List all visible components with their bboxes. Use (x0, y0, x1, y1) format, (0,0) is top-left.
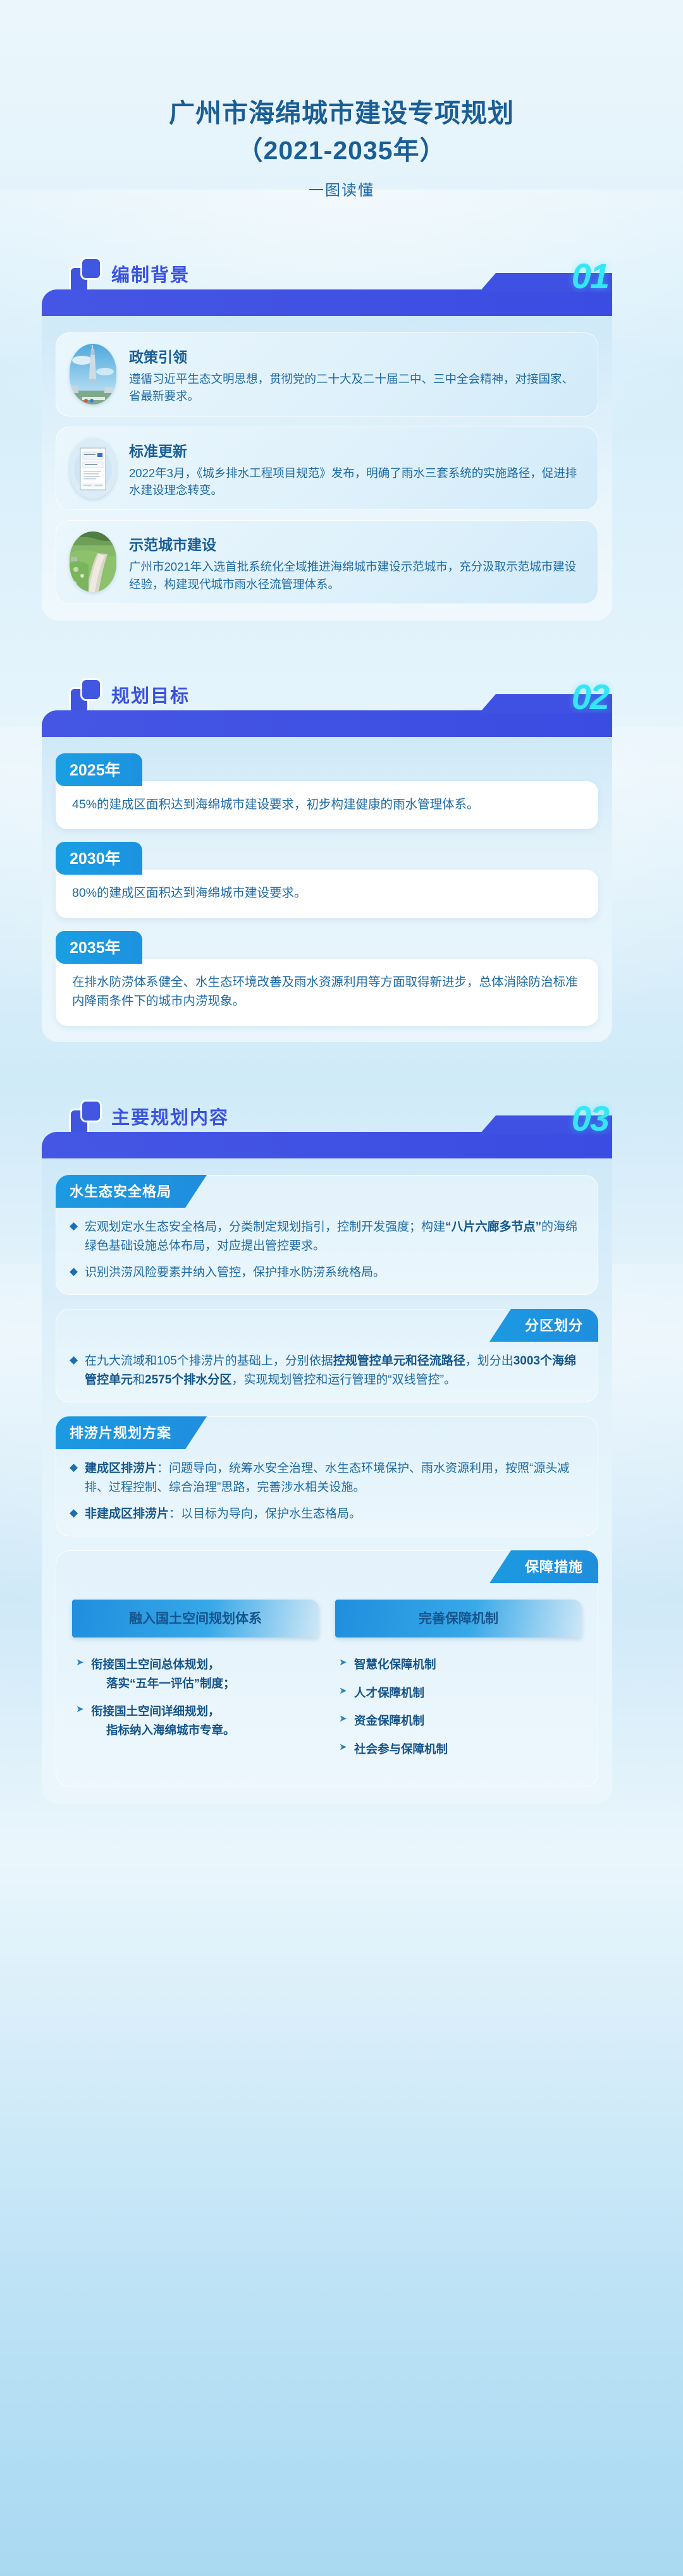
flag-icon (71, 680, 100, 713)
safeguard-button-label: 融入国土空间规划体系 (129, 1612, 262, 1626)
spacer (0, 1042, 683, 1088)
section-bar (42, 710, 612, 741)
goal-text: 在排水防涝体系健全、水生态环境改善及雨水资源利用等方面取得新进步，总体消除防治标… (72, 973, 582, 1011)
block-tag: 排涝片规划方案 (56, 1416, 207, 1449)
diamond-bullet-icon: ◆ (70, 1218, 80, 1256)
list-item: ➤ 人才保障机制 (339, 1684, 582, 1703)
block-tag: 水生态安全格局 (56, 1175, 207, 1208)
safeguard-list: ➤ 智慧化保障机制 ➤ 人才保障机制 ➤ 资金保障机制 ➤ (335, 1655, 582, 1758)
chevron-right-icon: ➤ (76, 1702, 85, 1739)
bullet-text: 非建成区排涝片：以目标为导向，保护水生态格局。 (85, 1505, 361, 1524)
block-tag: 分区划分 (489, 1309, 598, 1342)
page-title: 广州市海绵城市建设专项规划 （2021-2035年） (0, 95, 683, 170)
bullet-text: 识别洪涝风险要素并纳入管控，保护排水防涝系统格局。 (85, 1263, 385, 1282)
list-item-line-1: 智慧化保障机制 (354, 1655, 436, 1674)
list-item: ➤ 资金保障机制 (339, 1711, 582, 1730)
section-bar (42, 1132, 612, 1162)
bullet-item: ◆ 建成区排涝片：问题导向，统筹水安全治理、水生态环境保护、雨水资源利用，按照“… (70, 1459, 582, 1497)
safeguard-button[interactable]: 完善保障机制 (335, 1600, 582, 1637)
chevron-right-icon: ➤ (339, 1740, 348, 1759)
list-item: ➤ 社会参与保障机制 (339, 1740, 582, 1759)
goal-card: 2030年 80%的建成区面积达到海绵城市建设要求。 (56, 842, 598, 918)
goal-year-badge: 2025年 (56, 753, 142, 786)
green-corridor-photo-icon (70, 532, 116, 592)
list-item: ➤ 衔接国土空间详细规划， 指标纳入海绵城市专章。 (76, 1702, 319, 1739)
list-item-line-2: 落实“五年一评估”制度； (91, 1674, 235, 1693)
chevron-right-icon: ➤ (339, 1711, 348, 1730)
content-block-zoning: 分区划分 ◆ 在九大流域和105个排涝片的基础上，分别依据控规管控单元和径流路径… (56, 1309, 598, 1402)
section-bar (42, 289, 612, 320)
page-header: 广州市海绵城市建设专项规划 （2021-2035年） 一图读懂 (0, 0, 683, 200)
spacer (0, 200, 683, 245)
bullet-list: ◆ 建成区排涝片：问题导向，统筹水安全治理、水生态环境保护、雨水资源利用，按照“… (56, 1449, 598, 1524)
content-block-safeguards: 保障措施 融入国土空间规划体系 ➤ 衔接国土空间总体规划， 落实“五年一评估”制… (56, 1550, 598, 1787)
section-number: 03 (572, 1098, 608, 1139)
diamond-bullet-icon: ◆ (70, 1459, 80, 1497)
section-number: 02 (572, 676, 608, 717)
section-panel-03: 水生态安全格局 ◆ 宏观划定水生态安全格局，分类制定规划指引，控制开发强度；构建… (42, 1158, 612, 1804)
safeguard-button-label: 完善保障机制 (419, 1612, 498, 1626)
canton-tower-photo-icon (70, 344, 116, 404)
spacer (0, 621, 683, 666)
diamond-bullet-icon: ◆ (70, 1352, 80, 1390)
page-title-line-1: 广州市海绵城市建设专项规划 (0, 95, 683, 132)
page-subtitle: 一图读懂 (0, 178, 683, 200)
goal-card: 2025年 45%的建成区面积达到海绵城市建设要求，初步构建健康的雨水管理体系。 (56, 753, 598, 829)
section-header-02: 规划目标 02 (71, 666, 612, 741)
section-title: 编制背景 (111, 260, 190, 287)
section-panel-01: 政策引领 遵循习近平生态文明思想，贯彻党的二十大及二十届二中、三中全会精神，对接… (42, 316, 612, 621)
background-card: 政策引领 遵循习近平生态文明思想，贯彻党的二十大及二十届二中、三中全会精神，对接… (56, 332, 598, 416)
section-main-content: 主要规划内容 03 水生态安全格局 ◆ 宏观划定水生态安全格局，分类制定规划指引… (0, 1088, 683, 1804)
chevron-right-icon: ➤ (339, 1684, 348, 1703)
section-title: 规划目标 (111, 681, 190, 708)
safeguard-column: 完善保障机制 ➤ 智慧化保障机制 ➤ 人才保障机制 ➤ 资 (335, 1600, 582, 1768)
goal-text: 45%的建成区面积达到海绵城市建设要求，初步构建健康的雨水管理体系。 (72, 795, 582, 814)
safeguard-button[interactable]: 融入国土空间规划体系 (72, 1600, 319, 1637)
safeguard-column: 融入国土空间规划体系 ➤ 衔接国土空间总体规划， 落实“五年一评估”制度； ➤ (72, 1600, 319, 1768)
content-block-drainage-plan: 排涝片规划方案 ◆ 建成区排涝片：问题导向，统筹水安全治理、水生态环境保护、雨水… (56, 1416, 598, 1536)
bullet-item: ◆ 识别洪涝风险要素并纳入管控，保护排水防涝系统格局。 (70, 1263, 582, 1282)
content-block-water-ecology: 水生态安全格局 ◆ 宏观划定水生态安全格局，分类制定规划指引，控制开发强度；构建… (56, 1175, 598, 1295)
section-header-01: 编制背景 01 (71, 245, 612, 320)
bullet-list: ◆ 宏观划定水生态安全格局，分类制定规划指引，控制开发强度；构建“八片六廊多节点… (56, 1208, 598, 1282)
card-heading: 示范城市建设 (129, 533, 584, 554)
goal-card: 2035年 在排水防涝体系健全、水生态环境改善及雨水资源利用等方面取得新进步，总… (56, 931, 598, 1026)
section-number: 01 (572, 255, 608, 296)
diamond-bullet-icon: ◆ (70, 1263, 80, 1282)
background-card: 标准更新 2022年3月，《城乡排水工程项目规范》发布，明确了雨水三套系统的实施… (56, 427, 598, 511)
list-item: ➤ 衔接国土空间总体规划， 落实“五年一评估”制度； (76, 1655, 319, 1692)
safeguard-list: ➤ 衔接国土空间总体规划， 落实“五年一评估”制度； ➤ 衔接国土空间详细规划，… (72, 1655, 319, 1739)
list-item-line-1: 人才保障机制 (354, 1684, 424, 1703)
goal-text: 80%的建成区面积达到海绵城市建设要求。 (72, 884, 582, 902)
card-heading: 政策引领 (129, 345, 584, 367)
flag-icon (71, 259, 100, 292)
section-header-03: 主要规划内容 03 (71, 1088, 612, 1162)
card-body: 广州市2021年入选首批系统化全域推进海绵城市建设示范城市，充分汲取示范城市建设… (129, 558, 584, 593)
bullet-item: ◆ 非建成区排涝片：以目标为导向，保护水生态格局。 (70, 1505, 582, 1524)
section-title: 主要规划内容 (111, 1103, 229, 1129)
chevron-right-icon: ➤ (339, 1655, 348, 1674)
bullet-text: 宏观划定水生态安全格局，分类制定规划指引，控制开发强度；构建“八片六廊多节点”的… (85, 1218, 582, 1256)
card-body: 2022年3月，《城乡排水工程项目规范》发布，明确了雨水三套系统的实施路径，促进… (129, 465, 584, 499)
list-item-line-1: 社会参与保障机制 (354, 1740, 448, 1759)
section-background: 编制背景 01 (0, 245, 683, 621)
list-item-line-1: 衔接国土空间详细规划， (91, 1704, 220, 1718)
list-item-line-1: 资金保障机制 (354, 1711, 424, 1730)
bullet-list: ◆ 在九大流域和105个排涝片的基础上，分别依据控规管控单元和径流路径，划分出3… (56, 1342, 598, 1390)
bullet-text: 在九大流域和105个排涝片的基础上，分别依据控规管控单元和径流路径，划分出300… (85, 1352, 582, 1390)
section-panel-02: 2025年 45%的建成区面积达到海绵城市建设要求，初步构建健康的雨水管理体系。… (42, 737, 612, 1042)
goal-year-badge: 2030年 (56, 842, 142, 875)
chevron-right-icon: ➤ (76, 1655, 85, 1692)
flag-icon (71, 1102, 100, 1134)
card-heading: 标准更新 (129, 439, 584, 461)
bullet-text: 建成区排涝片：问题导向，统筹水安全治理、水生态环境保护、雨水资源利用，按照“源头… (85, 1459, 582, 1497)
diamond-bullet-icon: ◆ (70, 1505, 80, 1524)
bullet-item: ◆ 在九大流域和105个排涝片的基础上，分别依据控规管控单元和径流路径，划分出3… (70, 1352, 582, 1390)
background-card: 示范城市建设 广州市2021年入选首批系统化全域推进海绵城市建设示范城市，充分汲… (56, 520, 598, 604)
block-tag: 保障措施 (489, 1550, 598, 1583)
goal-year-badge: 2035年 (56, 931, 142, 964)
standard-document-photo-icon (70, 438, 116, 499)
list-item-line-2: 指标纳入海绵城市专章。 (91, 1721, 235, 1740)
bullet-item: ◆ 宏观划定水生态安全格局，分类制定规划指引，控制开发强度；构建“八片六廊多节点… (70, 1218, 582, 1256)
list-item: ➤ 智慧化保障机制 (339, 1655, 582, 1674)
list-item-line-1: 衔接国土空间总体规划， (91, 1658, 220, 1671)
section-goals: 规划目标 02 2025年 45%的建成区面积达到海绵城市建设要求，初步构建健康… (0, 666, 683, 1042)
page-title-line-2: （2021-2035年） (0, 132, 683, 169)
card-body: 遵循习近平生态文明思想，贯彻党的二十大及二十届二中、三中全会精神，对接国家、省最… (129, 370, 584, 405)
